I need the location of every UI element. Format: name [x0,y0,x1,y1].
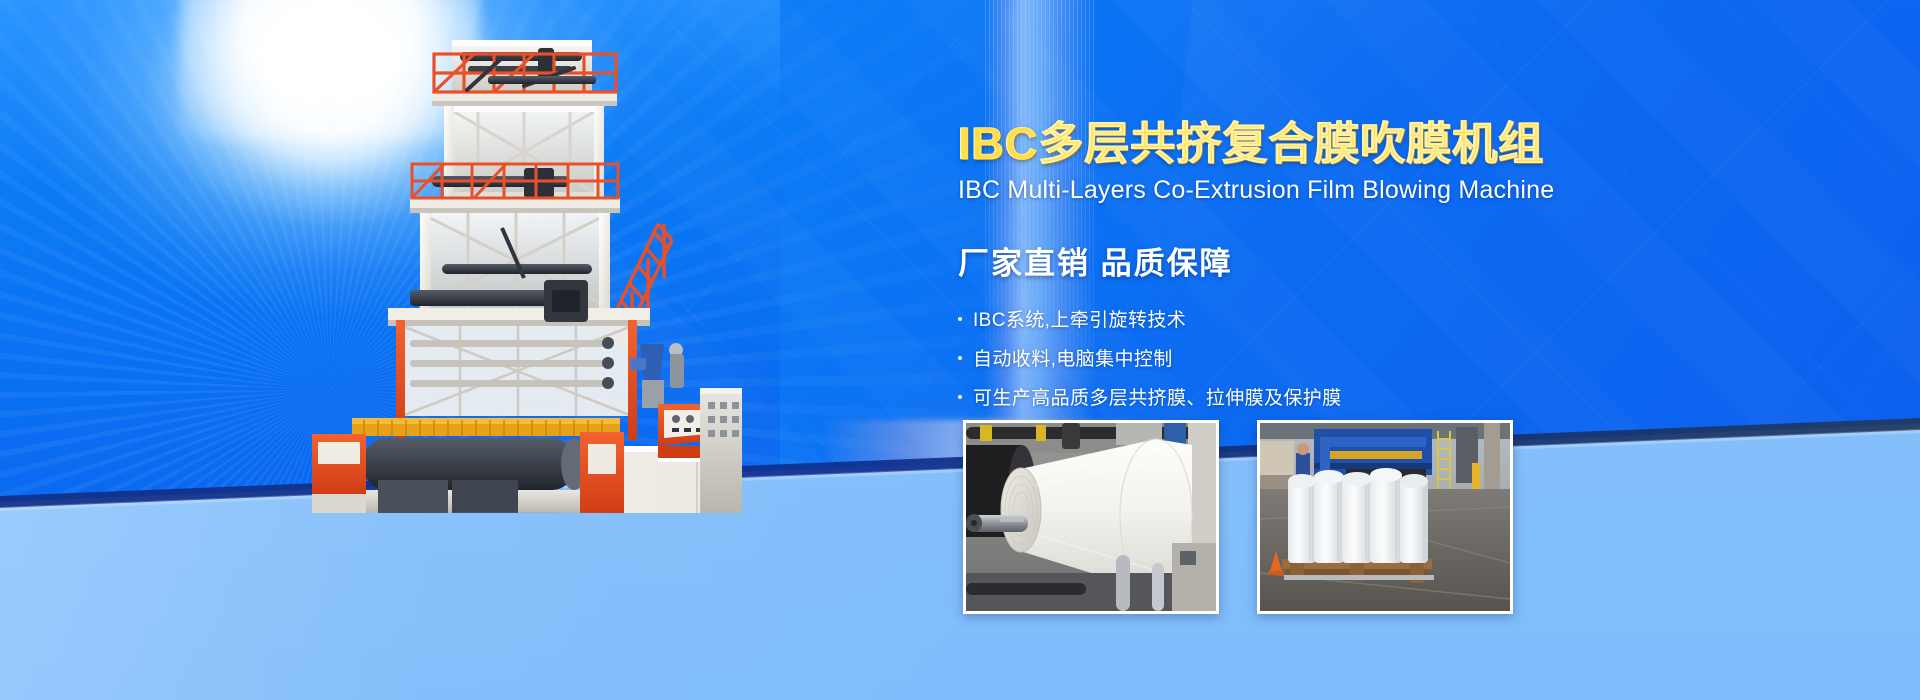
list-item-label: IBC系统,上牵引旋转技术 [973,305,1186,332]
product-hero-banner: IBC多层共挤复合膜吹膜机组 IBC Multi-Layers Co-Extru… [0,0,1920,700]
list-item-label: 自动收料,电脑集中控制 [973,344,1173,371]
bullet-dot-icon [958,317,962,321]
page-subtitle: IBC Multi-Layers Co-Extrusion Film Blowi… [958,176,1658,205]
product-photo-pallet-rolls [1257,420,1513,614]
banner-copy: IBC多层共挤复合膜吹膜机组 IBC Multi-Layers Co-Extru… [958,120,1658,422]
list-item-label: 可生产高品质多层共挤膜、拉伸膜及保护膜 [973,383,1342,410]
tagline: 厂家直销 品质保障 [958,238,1658,283]
bullet-dot-icon [958,356,962,360]
page-title: IBC多层共挤复合膜吹膜机组 [958,120,1658,169]
list-item: 自动收料,电脑集中控制 [958,344,1658,371]
blown-film-machine-image [292,28,742,513]
bullet-dot-icon [958,395,962,399]
list-item: IBC系统,上牵引旋转技术 [958,305,1658,332]
product-photo-film-roll [963,420,1219,614]
list-item: 可生产高品质多层共挤膜、拉伸膜及保护膜 [958,383,1658,410]
product-photo-gallery [963,420,1513,614]
feature-list: IBC系统,上牵引旋转技术 自动收料,电脑集中控制 可生产高品质多层共挤膜、拉伸… [958,305,1658,410]
